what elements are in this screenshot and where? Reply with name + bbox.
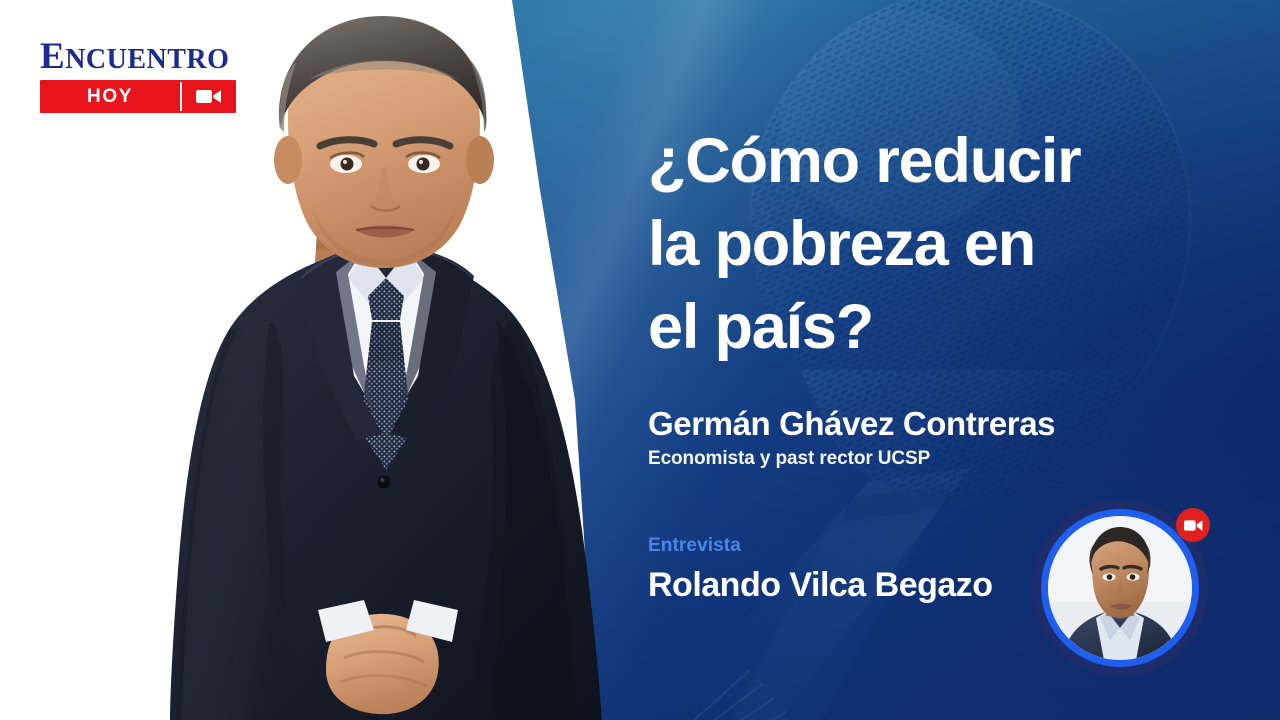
logo-wordmark: ENCUENTRO [40, 38, 236, 75]
guest-portrait [168, 10, 604, 720]
guest-name: Germán Ghávez Contreras [648, 404, 1208, 444]
guest-info: Germán Ghávez Contreras Economista y pas… [648, 404, 1208, 470]
encuentro-hoy-logo[interactable]: ENCUENTRO HOY [40, 38, 236, 113]
video-camera-icon [182, 80, 236, 113]
interviewer-avatar[interactable] [1032, 500, 1208, 676]
logo-wordmark-initial: E [40, 36, 65, 77]
guest-role: Economista y past rector UCSP [648, 448, 1208, 470]
logo-hoy-label: HOY [40, 80, 180, 113]
interview-label: Entrevista [648, 534, 1078, 558]
logo-red-bar: HOY [40, 80, 236, 113]
title-line-2: la pobreza en [648, 203, 1258, 286]
interviewer-info: Entrevista Rolando Vilca Begazo [648, 534, 1078, 606]
title-line-3: el país? [648, 286, 1258, 369]
avatar-video-badge-icon [1176, 508, 1210, 542]
logo-wordmark-rest: NCUENTRO [65, 44, 229, 75]
avatar-photo [1048, 516, 1192, 660]
video-thumbnail-canvas: ENCUENTRO HOY ¿Cómo reducir la pobreza e… [0, 0, 1280, 720]
interviewer-name: Rolando Vilca Begazo [648, 564, 1078, 606]
title-line-1: ¿Cómo reducir [648, 120, 1258, 203]
page-title: ¿Cómo reducir la pobreza en el país? [648, 120, 1258, 369]
